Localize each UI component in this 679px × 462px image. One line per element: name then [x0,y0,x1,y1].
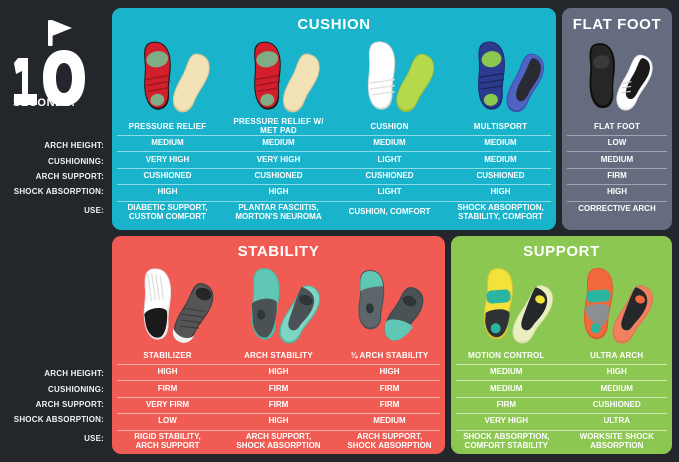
row-label-arch-height: ARCH HEIGHT: [0,138,108,153]
table-row: HIGHHIGHHIGH [112,365,445,380]
value-cushion-r3-c3: HIGH [445,185,556,200]
value-cushion-r1-c0: VERY HIGH [112,152,223,167]
table-row: FIRMCUSHIONED [451,398,672,413]
value-flat_foot-r2-c0: FIRM [562,169,672,184]
product-image-strip-stability [112,260,445,348]
value-support-r2-c1: CUSHIONED [562,398,673,413]
table-row: CUSHIONEDCUSHIONEDCUSHIONEDCUSHIONED [112,169,556,184]
row-label-arch-support: ARCH SUPPORT: [0,169,108,184]
insole-flat-foot-image [576,37,660,115]
insole-pressure-relief-met-pad-image [240,37,328,115]
table-row: LOW [562,136,672,151]
panel-title-cushion: CUSHION [112,8,556,33]
column-headers-flat-foot: FLAT FOOT [562,119,672,135]
table-row: FIRMFIRMFIRM [112,381,445,396]
table-row: RIGID STABILITY, ARCH SUPPORTARCH SUPPOR… [112,431,445,453]
row-label-arch-height: ARCH HEIGHT: [0,366,108,381]
table-row: CORRECTIVE ARCH [562,202,672,217]
value-support-r1-c1: MEDIUM [562,381,673,396]
column-header-support-1: ULTRA ARCH [562,348,673,364]
value-stability-r0-c0: HIGH [112,365,223,380]
value-support-r3-c1: ULTRA [562,414,673,429]
value-cushion-r0-c1: MEDIUM [223,136,334,151]
table-row: FIRM [562,169,672,184]
value-stability-r4-c2: ARCH SUPPORT, SHOCK ABSORPTION [334,431,445,453]
panel-stability: STABILITY [112,236,445,454]
insole-pressure-relief-image [130,37,218,115]
column-header-stability-2: ¾ ARCH STABILITY [334,348,445,364]
value-cushion-r0-c0: MEDIUM [112,136,223,151]
value-rows-cushion: MEDIUMMEDIUMMEDIUMMEDIUMVERY HIGHVERY HI… [112,135,556,224]
column-headers-stability: STABILIZERARCH STABILITY¾ ARCH STABILITY [112,348,445,364]
value-cushion-r2-c3: CUSHIONED [445,169,556,184]
table-row: SHOCK ABSORPTION, COMFORT STABILITYWORKS… [451,431,672,453]
panel-cushion: CUSHION [112,8,556,230]
value-flat_foot-r3-c0: HIGH [562,185,672,200]
row-label-shock-absorption: SHOCK ABSORPTION: [0,184,108,199]
value-cushion-r2-c2: CUSHIONED [334,169,445,184]
row-label-cushioning: CUSHIONING: [0,381,108,396]
panel-title-flat-foot: FLAT FOOT [562,8,672,33]
value-stability-r4-c1: ARCH SUPPORT, SHOCK ABSORPTION [223,431,334,453]
value-support-r1-c0: MEDIUM [451,381,562,396]
panel-title-support: SUPPORT [451,236,672,260]
table-row: MEDIUMMEDIUMMEDIUMMEDIUM [112,136,556,151]
product-image-strip-cushion [112,33,556,119]
table-row: LOWHIGHMEDIUM [112,414,445,429]
value-cushion-r0-c3: MEDIUM [445,136,556,151]
insole-stabilizer-image [130,264,222,346]
panel-flat-foot: FLAT FOOT FLAT FOOT [562,8,672,230]
column-header-stability-0: STABILIZER [112,348,223,364]
insole-ultra-arch-image [569,264,661,346]
brand-logo: SECONDS. [8,14,108,109]
insole-multisport-image [464,37,552,115]
value-flat_foot-r0-c0: LOW [562,136,672,151]
value-cushion-r1-c3: MEDIUM [445,152,556,167]
insole-three-quarter-arch-stability-image [342,264,434,346]
value-support-r2-c0: FIRM [451,398,562,413]
value-support-r0-c1: HIGH [562,365,673,380]
value-cushion-r3-c0: HIGH [112,185,223,200]
panel-title-stability: STABILITY [112,236,445,260]
table-row: VERY HIGHULTRA [451,414,672,429]
value-stability-r3-c1: HIGH [223,414,334,429]
column-header-cushion-2: CUSHION [334,119,445,135]
value-flat_foot-r1-c0: MEDIUM [562,152,672,167]
table-row: HIGH [562,185,672,200]
row-label-column-top: ARCH HEIGHT:CUSHIONING:ARCH SUPPORT:SHOC… [0,138,108,222]
product-image-strip-support [451,260,672,348]
column-header-support-0: MOTION CONTROL [451,348,562,364]
value-rows-flat-foot: LOWMEDIUMFIRMHIGHCORRECTIVE ARCH [562,135,672,217]
value-cushion-r4-c3: SHOCK ABSORPTION, STABILITY, COMFORT [445,202,556,224]
value-support-r0-c0: MEDIUM [451,365,562,380]
value-cushion-r4-c0: DIABETIC SUPPORT, CUSTOM COMFORT [112,202,223,224]
value-cushion-r0-c2: MEDIUM [334,136,445,151]
column-headers-cushion: PRESSURE RELIEFPRESSURE RELIEF W/ MET PA… [112,119,556,135]
insole-motion-control-image [469,264,561,346]
row-label-shock-absorption: SHOCK ABSORPTION: [0,412,108,427]
value-stability-r1-c0: FIRM [112,381,223,396]
table-row: HIGHHIGHLIGHTHIGH [112,185,556,200]
value-stability-r2-c1: FIRM [223,398,334,413]
value-cushion-r3-c2: LIGHT [334,185,445,200]
value-support-r3-c0: VERY HIGH [451,414,562,429]
column-header-flat_foot-0: FLAT FOOT [562,119,672,135]
value-rows-stability: HIGHHIGHHIGHFIRMFIRMFIRMVERY FIRMFIRMFIR… [112,364,445,453]
column-header-cushion-1: PRESSURE RELIEF W/ MET PAD [223,119,334,135]
value-stability-r1-c1: FIRM [223,381,334,396]
row-label-arch-support: ARCH SUPPORT: [0,397,108,412]
insole-cushion-image [354,37,442,115]
column-header-stability-1: ARCH STABILITY [223,348,334,364]
value-cushion-r4-c1: PLANTAR FASCIITIS, MORTON'S NEUROMA [223,202,334,224]
value-cushion-r2-c0: CUSHIONED [112,169,223,184]
value-stability-r2-c2: FIRM [334,398,445,413]
table-row: MEDIUMMEDIUM [451,381,672,396]
value-cushion-r1-c2: LIGHT [334,152,445,167]
row-label-cushioning: CUSHIONING: [0,153,108,168]
brand-sub-text: SECONDS. [13,97,75,109]
table-row: VERY FIRMFIRMFIRM [112,398,445,413]
value-stability-r2-c0: VERY FIRM [112,398,223,413]
insole-arch-stability-image [236,264,328,346]
row-label-column-bottom: ARCH HEIGHT:CUSHIONING:ARCH SUPPORT:SHOC… [0,366,108,450]
table-row: MEDIUM [562,152,672,167]
panel-support: SUPPORT [451,236,672,454]
flag-icon [52,20,72,36]
insole-comparison-chart: SECONDS. ARCH HEIGHT:CUSHIONING:ARCH SUP… [0,0,679,462]
value-support-r4-c1: WORKSITE SHOCK ABSORPTION [562,431,673,453]
value-stability-r3-c2: MEDIUM [334,414,445,429]
product-image-strip-flat-foot [562,33,672,119]
value-cushion-r4-c2: CUSHION, COMFORT [334,202,445,224]
column-header-cushion-3: MULTISPORT [445,119,556,135]
value-cushion-r2-c1: CUSHIONED [223,169,334,184]
table-row: MEDIUMHIGH [451,365,672,380]
value-cushion-r3-c1: HIGH [223,185,334,200]
value-flat_foot-r4-c0: CORRECTIVE ARCH [562,202,672,217]
column-headers-support: MOTION CONTROLULTRA ARCH [451,348,672,364]
value-stability-r0-c1: HIGH [223,365,334,380]
table-row: VERY HIGHVERY HIGHLIGHTMEDIUM [112,152,556,167]
value-stability-r0-c2: HIGH [334,365,445,380]
value-cushion-r1-c1: VERY HIGH [223,152,334,167]
column-header-cushion-0: PRESSURE RELIEF [112,119,223,135]
value-rows-support: MEDIUMHIGHMEDIUMMEDIUMFIRMCUSHIONEDVERY … [451,364,672,453]
value-stability-r3-c0: LOW [112,414,223,429]
value-stability-r4-c0: RIGID STABILITY, ARCH SUPPORT [112,431,223,453]
table-row: DIABETIC SUPPORT, CUSTOM COMFORTPLANTAR … [112,202,556,224]
value-stability-r1-c2: FIRM [334,381,445,396]
row-label-use: USE: [0,428,108,450]
value-support-r4-c0: SHOCK ABSORPTION, COMFORT STABILITY [451,431,562,453]
row-label-use: USE: [0,200,108,222]
